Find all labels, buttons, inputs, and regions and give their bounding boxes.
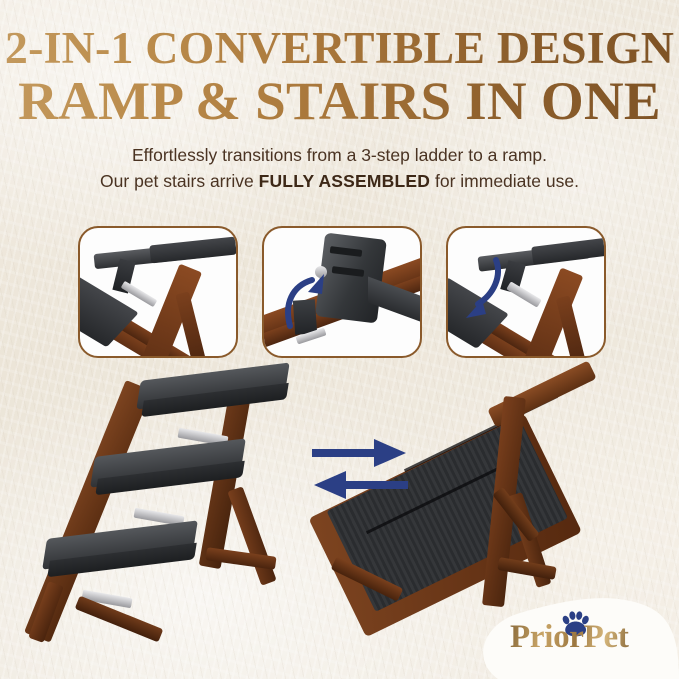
detail-panel-step-folding-up — [262, 226, 422, 358]
logo-wordmark: PriorPet — [510, 619, 629, 656]
headline-line-1: 2-IN-1 CONVERTIBLE DESIGN — [0, 26, 679, 71]
headline-block: 2-IN-1 CONVERTIBLE DESIGN RAMP & STAIRS … — [0, 26, 679, 128]
convert-to-ramp-arrow — [312, 439, 406, 467]
subtitle-line-2-before: Our pet stairs arrive — [100, 171, 259, 191]
headline-line-2: RAMP & STAIRS IN ONE — [0, 74, 679, 128]
subtitle-block: Effortlessly transitions from a 3-step l… — [0, 143, 679, 194]
conversion-arrows — [308, 434, 412, 506]
fold-down-arrow-icon — [456, 256, 514, 328]
subtitle-line-2: Our pet stairs arrive FULLY ASSEMBLED fo… — [0, 169, 679, 195]
panel-3-image — [448, 228, 604, 356]
fold-up-arrow-icon — [278, 268, 340, 330]
panel-2-image — [264, 228, 420, 356]
subtitle-line-1: Effortlessly transitions from a 3-step l… — [0, 143, 679, 169]
convert-to-stairs-arrow — [314, 471, 408, 499]
detail-panel-step-folding-down — [446, 226, 606, 358]
brand-logo: PriorPet — [464, 597, 679, 679]
product-stairs — [30, 366, 320, 651]
detail-panels-row — [0, 226, 679, 366]
panel-1-image — [80, 228, 236, 356]
subtitle-emphasis: FULLY ASSEMBLED — [259, 171, 431, 191]
subtitle-line-2-after: for immediate use. — [430, 171, 579, 191]
detail-panel-step-deployed — [78, 226, 238, 358]
